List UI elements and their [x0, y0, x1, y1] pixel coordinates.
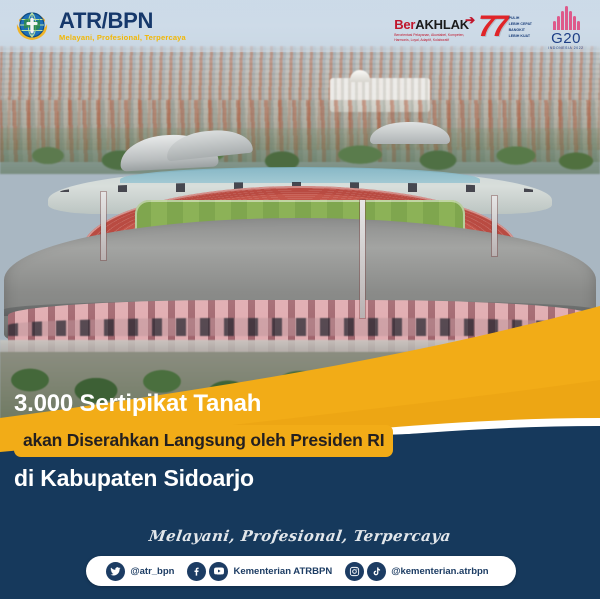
headline-line-1: 3.000 Sertipikat Tanah: [14, 390, 484, 418]
twitter-handle[interactable]: @atr_bpn: [130, 566, 174, 577]
anniversary-77-logo: 77 PULIH LEBIH CEPAT BANGKIT LEBIH KUAT: [478, 15, 532, 39]
anniversary-slogan: PULIH LEBIH CEPAT BANGKIT LEBIH KUAT: [509, 15, 532, 39]
brand-name: ATR/BPN: [59, 10, 186, 32]
social-group-twitter[interactable]: @atr_bpn: [106, 562, 181, 581]
g20-logo: G20 INDONESIA 2022: [540, 4, 592, 50]
g20-subtitle: INDONESIA 2022: [540, 47, 592, 50]
instagram-icon[interactable]: [345, 562, 364, 581]
tiktok-icon[interactable]: [367, 562, 386, 581]
headline-line-3: di Kabupaten Sidoarjo: [14, 465, 484, 492]
berakhlak-akhlak: AKHLAK: [415, 17, 469, 32]
poster: ATR/BPN Melayani, Profesional, Terpercay…: [0, 0, 600, 599]
youtube-icon[interactable]: [209, 562, 228, 581]
social-group-instagram-tiktok[interactable]: @kementerian.atrbpn: [345, 562, 495, 581]
headline-block: 3.000 Sertipikat Tanah akan Diserahkan L…: [14, 390, 484, 492]
facebook-youtube-handle[interactable]: Kementerian ATRBPN: [233, 566, 332, 577]
brand-lockup: ATR/BPN Melayani, Profesional, Terpercay…: [12, 6, 186, 46]
berakhlak-logo: ➔ BerAKHLAK Berorientasi Pelayanan, Akun…: [394, 12, 470, 43]
berakhlak-ber: Ber: [394, 17, 415, 32]
g20-indonesia-monument-icon: [540, 4, 592, 30]
brand-text: ATR/BPN Melayani, Profesional, Terpercay…: [59, 10, 186, 42]
anniversary-number: 77: [478, 15, 505, 39]
g20-label: G20: [540, 31, 592, 46]
atr-bpn-globe-emblem-icon: [12, 6, 52, 46]
social-group-facebook-youtube[interactable]: Kementerian ATRBPN: [187, 562, 339, 581]
slogan-line-4: LEBIH KUAT: [509, 33, 532, 39]
instagram-tiktok-handle[interactable]: @kementerian.atrbpn: [391, 566, 488, 577]
berakhlak-wordmark: BerAKHLAK: [394, 18, 470, 31]
floodlight-mast-right: [492, 196, 497, 256]
brand-tagline: Melayani, Profesional, Terpercaya: [59, 34, 186, 42]
berakhlak-subtitle: Berorientasi Pelayanan, Akuntabel, Kompe…: [394, 33, 470, 43]
footer-tagline: Melayani, Profesional, Terpercaya: [0, 527, 600, 545]
twitter-icon[interactable]: [106, 562, 125, 581]
facebook-icon[interactable]: [187, 562, 206, 581]
partner-logos: ➔ BerAKHLAK Berorientasi Pelayanan, Akun…: [394, 4, 592, 50]
social-media-bar: @atr_bpn Kementerian ATRBPN @kementerian…: [86, 556, 516, 586]
headline-line-2-highlight: akan Diserahkan Langsung oleh Presiden R…: [14, 425, 393, 457]
check-tick-icon: ➔: [465, 14, 475, 26]
floodlight-mast: [101, 192, 106, 260]
